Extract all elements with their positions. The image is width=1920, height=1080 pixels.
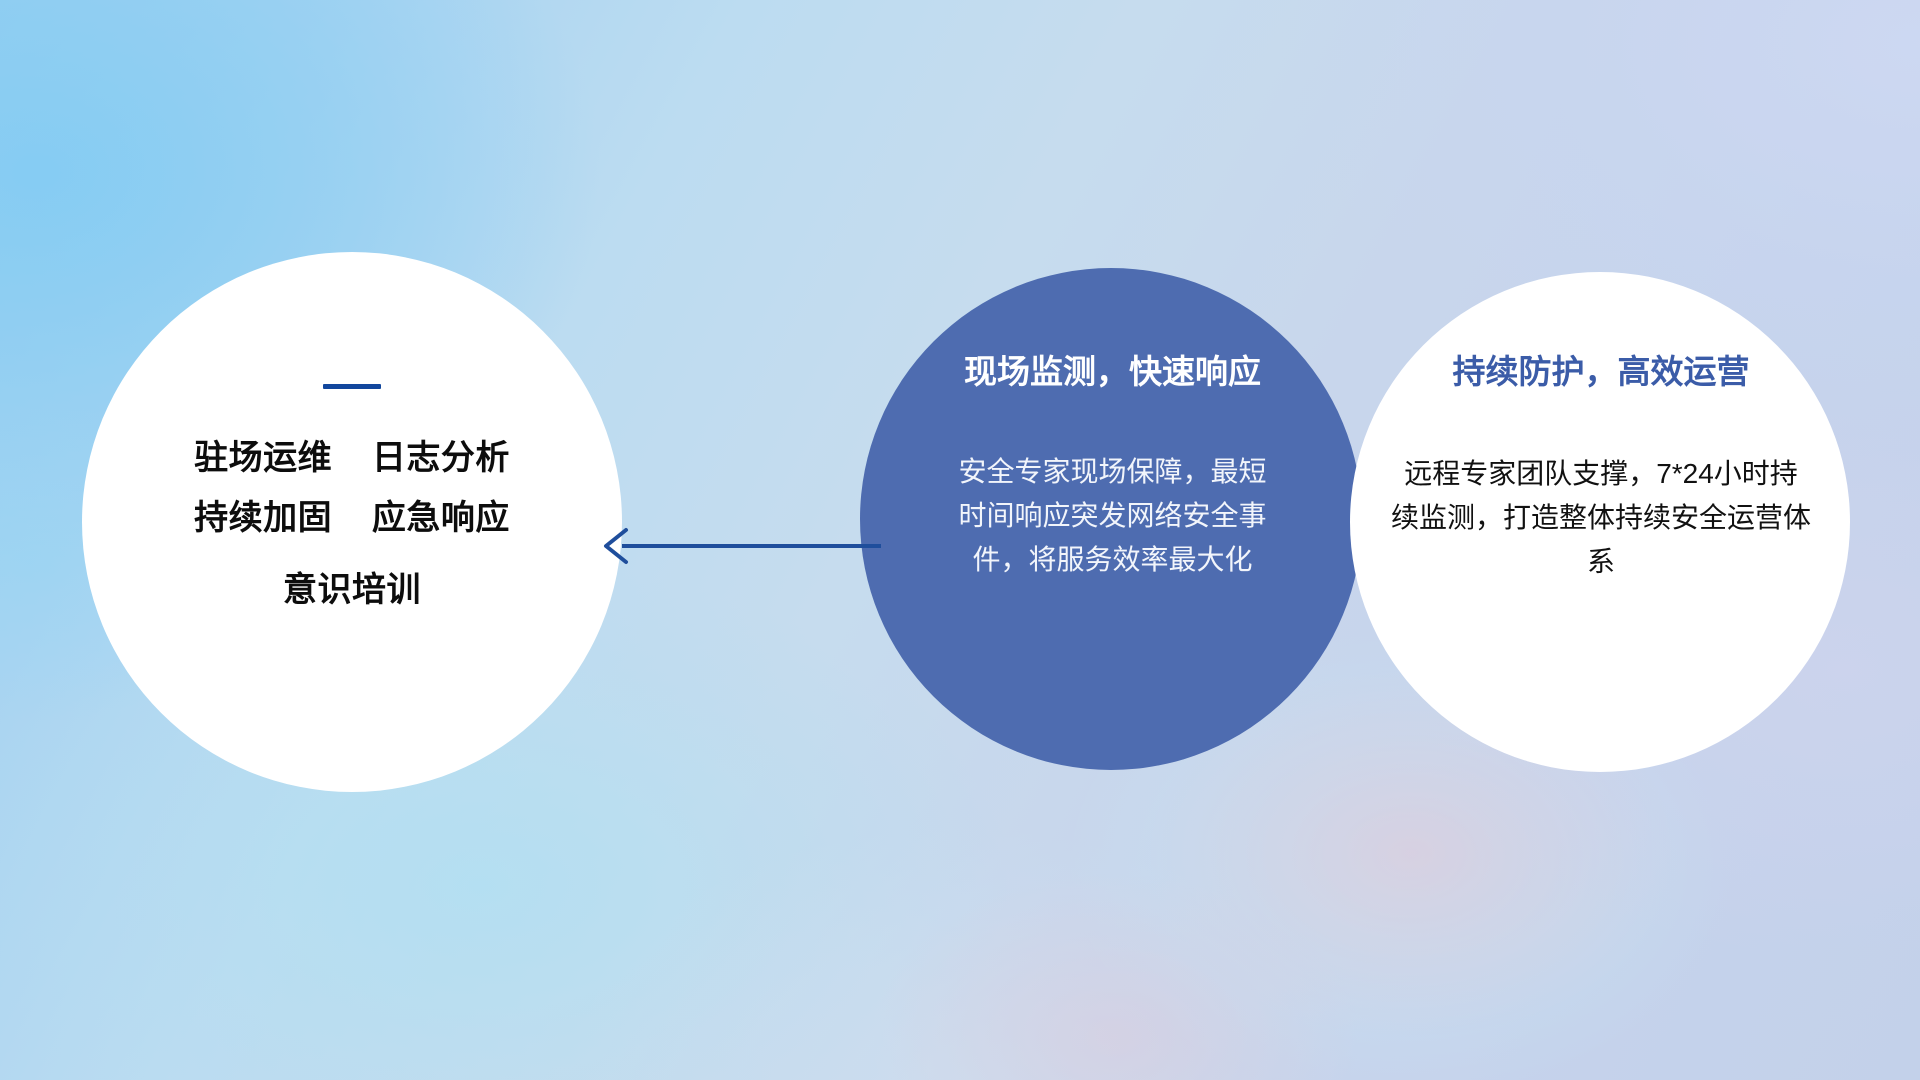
slide-canvas: 驻场运维 日志分析 持续加固 应急响应 意识培训 现场监测，快速响应 安全专家现… (0, 0, 1920, 1080)
center-circle-body: 安全专家现场保障，最短时间响应突发网络安全事件，将服务效率最大化 (948, 450, 1278, 581)
left-pointing-arrow-icon (596, 516, 886, 576)
left-circle-line-2: 持续加固 应急响应 (194, 501, 510, 535)
right-circle-content: 持续防护，高效运营 远程专家团队支撑，7*24小时持续监测，打造整体持续安全运营… (1356, 272, 1846, 772)
center-circle-title: 现场监测，快速响应 (964, 354, 1261, 390)
left-circle-content: 驻场运维 日志分析 持续加固 应急响应 意识培训 (82, 252, 622, 792)
right-circle-body: 远程专家团队支撑，7*24小时持续监测，打造整体持续安全运营体系 (1391, 452, 1811, 583)
left-circle-line-3: 意识培训 (194, 573, 510, 607)
center-circle-content: 现场监测，快速响应 安全专家现场保障，最短时间响应突发网络安全事件，将服务效率最… (880, 268, 1345, 770)
right-circle-title: 持续防护，高效运营 (1453, 354, 1750, 390)
left-circle-service-list: 驻场运维 日志分析 持续加固 应急响应 意识培训 (194, 441, 510, 607)
accent-dash-icon (323, 384, 381, 389)
left-circle-line-1: 驻场运维 日志分析 (194, 441, 510, 475)
